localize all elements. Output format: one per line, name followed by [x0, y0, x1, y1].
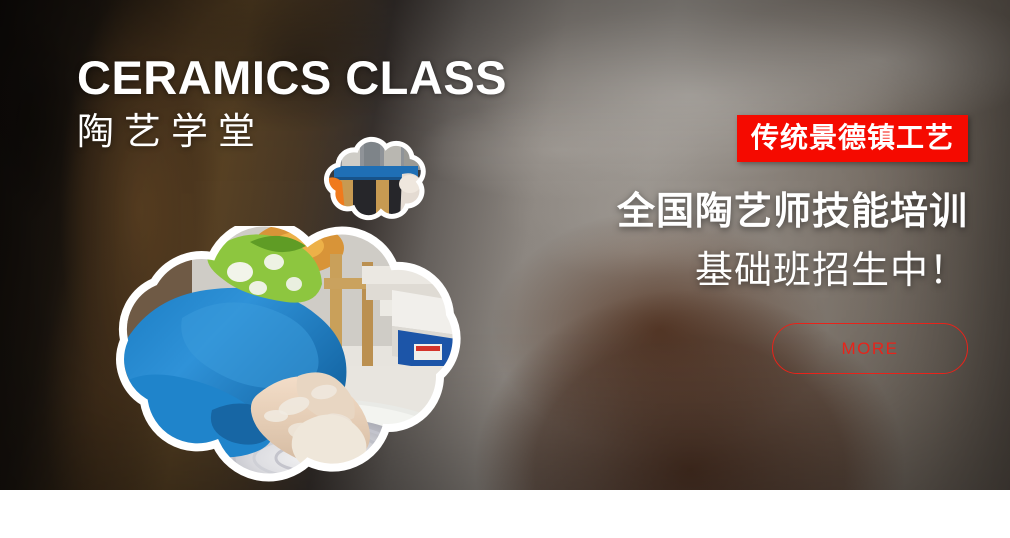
cloud-photo-large: [62, 226, 534, 516]
more-button[interactable]: MORE: [772, 323, 968, 374]
more-button-wrapper: MORE: [548, 323, 968, 374]
promo-block: 传统景德镇工艺 全国陶艺师技能培训 基础班招生中！ MORE: [548, 115, 968, 374]
cloud-small-photo-content: [318, 136, 431, 222]
page-background-strip: [0, 490, 1010, 538]
promo-subheadline: 基础班招生中！: [548, 251, 968, 293]
headline-english: CERAMICS CLASS: [77, 54, 547, 102]
headline-chinese: 陶艺学堂: [77, 111, 547, 152]
ceramics-class-banner: CERAMICS CLASS 陶艺学堂: [0, 0, 1010, 538]
promo-headline: 全国陶艺师技能培训: [548, 192, 968, 234]
cloud-thumbnail-small: [318, 136, 431, 222]
status-badge: 传统景德镇工艺: [737, 115, 968, 162]
headline-block: CERAMICS CLASS 陶艺学堂: [77, 54, 547, 152]
